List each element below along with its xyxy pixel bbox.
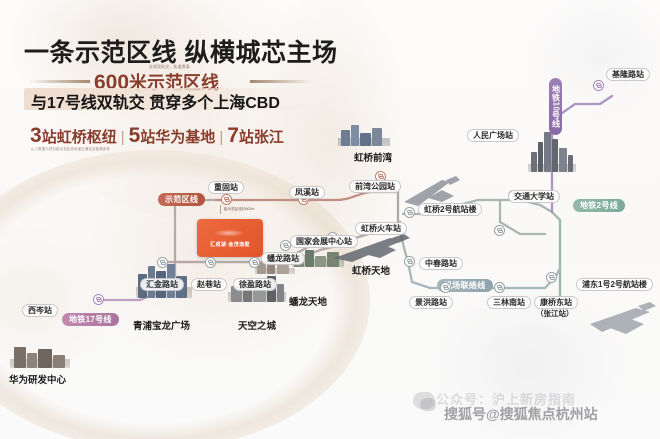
station-node-icon[interactable]	[404, 256, 415, 267]
station-node-icon[interactable]	[93, 294, 104, 305]
station-label-sanlinnan[interactable]: 三林南站	[487, 296, 531, 309]
station-label-pudong-t1t2[interactable]: 浦东1号2号航站楼	[576, 278, 653, 291]
station-node-icon[interactable]	[249, 257, 260, 268]
poi-label-sky-city: 天空之城	[238, 318, 276, 332]
station-label-hongqiao-t2[interactable]: 虹桥2号航站楼	[418, 203, 482, 216]
project-logo-icon	[205, 226, 255, 239]
station-label-xicen[interactable]: 西岑站	[22, 304, 58, 317]
wechat-icon	[413, 392, 435, 409]
poi-label-qingpu-baolong: 青浦宝龙广场	[133, 318, 190, 332]
poi-label-hongqiao-tiandi: 虹桥天地	[352, 263, 390, 277]
station-node-icon[interactable]	[546, 272, 557, 283]
station-label-xuyinglu[interactable]: 徐盈路站	[233, 278, 277, 291]
metro-10-tag[interactable]: 地铁10号线	[549, 78, 562, 135]
station-node-icon[interactable]	[494, 282, 505, 293]
station-label-kangqiaodong[interactable]: 康桥东站	[534, 296, 578, 309]
station-sublabel-zhangjiang: （张江站）	[534, 309, 576, 319]
callout-tick	[220, 205, 221, 214]
poster-root: 一条示范区线 纵横城芯主场 全线双轨交，轨道换乘 600米示范区线 与17号线双…	[0, 0, 660, 439]
station-node-icon[interactable]	[440, 282, 451, 293]
transit-map: 汇成湖·金茂逸墅 距示范区线约600m 示范区线 地铁17号线 地铁10号线 地…	[0, 0, 660, 439]
poi-label-panlong-tiandi: 蟠龙天地	[289, 294, 327, 308]
station-label-jilonglu[interactable]: 基隆路站	[606, 68, 650, 81]
project-distance-callout: 距示范区线约600m	[224, 207, 255, 212]
project-card-name: 汇成湖·金茂逸墅	[197, 241, 263, 248]
poi-label-hongqiao-qianwan: 虹桥前湾	[354, 150, 392, 164]
station-label-panlonglu[interactable]: 蟠龙路站	[261, 252, 305, 265]
station-label-zhaoxiang[interactable]: 赵巷站	[191, 278, 227, 291]
poi-photo-hongqiao-qianwan	[338, 118, 390, 146]
transit-lines-svg	[0, 0, 660, 439]
station-node-icon[interactable]	[593, 80, 604, 91]
metro-17-tag[interactable]: 地铁17号线	[62, 313, 119, 326]
station-label-jinghonglu[interactable]: 景洪路站	[409, 296, 453, 309]
station-label-zhongchunlu[interactable]: 中春路站	[419, 257, 463, 270]
station-label-chonggu[interactable]: 重固站	[208, 181, 244, 194]
station-label-nech[interactable]: 国家会展中心站	[290, 235, 358, 248]
station-node-icon[interactable]	[157, 257, 168, 268]
station-label-fengxi[interactable]: 凤溪站	[289, 186, 325, 199]
station-node-icon[interactable]	[205, 257, 216, 268]
poi-photo-huawei	[10, 336, 70, 368]
watermark-sohu: 搜狐号@搜狐焦点杭州站	[444, 404, 598, 424]
station-node-icon[interactable]	[494, 225, 505, 236]
station-label-renmin-square[interactable]: 人民广场站	[467, 129, 519, 142]
poi-photo-shanghai-skyline	[528, 128, 576, 172]
demo-line-tag[interactable]: 示范区线	[158, 193, 205, 206]
station-node-icon[interactable]	[221, 194, 232, 205]
station-node-icon[interactable]	[404, 207, 415, 218]
station-label-jiaotong-university[interactable]: 交通大学站	[508, 190, 560, 203]
station-label-huijinlu[interactable]: 汇金路站	[140, 278, 184, 291]
station-label-qianwan-park[interactable]: 前湾公园站	[349, 180, 401, 193]
station-label-hongqiao-railway[interactable]: 虹桥火车站	[355, 222, 407, 235]
project-card[interactable]: 汇成湖·金茂逸墅	[197, 219, 263, 257]
metro-2-tag[interactable]: 地铁2号线	[573, 199, 625, 212]
poi-label-huawei-rd: 华为研发中心	[9, 372, 66, 386]
